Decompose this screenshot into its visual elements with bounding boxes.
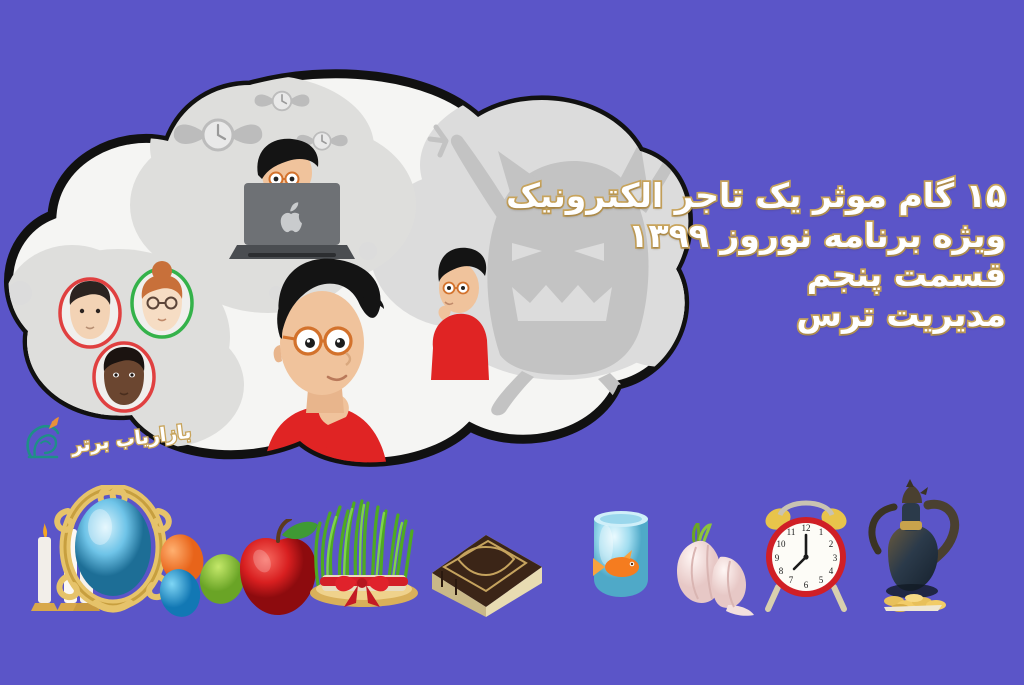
- pitcher-icon: [850, 479, 974, 617]
- title-line-1: ۱۵ گام موثر یک تاجر الکترونیک: [486, 178, 1006, 214]
- svg-text:2: 2: [829, 539, 834, 549]
- title-line-3: قسمت پنجم: [486, 257, 1006, 293]
- banner-canvas: ۱۵ گام موثر یک تاجر الکترونیک ویژه برنام…: [0, 0, 1024, 685]
- svg-text:9: 9: [775, 553, 780, 563]
- avatar-dark-skin: [94, 343, 154, 411]
- book-icon: [424, 513, 548, 617]
- haft-seen-items: 1212 345 678 91011: [0, 477, 1024, 617]
- banner-title: ۱۵ گام موثر یک تاجر الکترونیک ویژه برنام…: [486, 178, 1006, 337]
- svg-text:4: 4: [829, 566, 834, 576]
- sabzeh-icon: [300, 485, 428, 617]
- svg-text:5: 5: [819, 575, 824, 585]
- svg-text:6: 6: [804, 580, 809, 590]
- svg-text:12: 12: [802, 523, 811, 533]
- brand-logo-text: بازاریاب برتر: [71, 421, 193, 458]
- svg-text:7: 7: [789, 575, 794, 585]
- avatar-man: [60, 279, 120, 347]
- title-line-4: مدیریت ترس: [486, 297, 1006, 333]
- garlic-icon: [664, 523, 758, 617]
- svg-text:3: 3: [833, 553, 838, 563]
- title-line-2: ویژه برنامه نوروز ۱۳۹۹: [486, 218, 1006, 254]
- svg-text:1: 1: [819, 527, 824, 537]
- svg-text:10: 10: [777, 539, 787, 549]
- calligraphic-logo-mark: [21, 413, 67, 465]
- brand-logo[interactable]: بازاریاب برتر: [22, 408, 192, 470]
- svg-text:11: 11: [787, 527, 796, 537]
- fishbowl-icon: [572, 505, 670, 617]
- macbook-laptop: [229, 183, 355, 259]
- svg-text:8: 8: [779, 566, 784, 576]
- alarm-clock-icon: 1212 345 678 91011: [754, 493, 858, 617]
